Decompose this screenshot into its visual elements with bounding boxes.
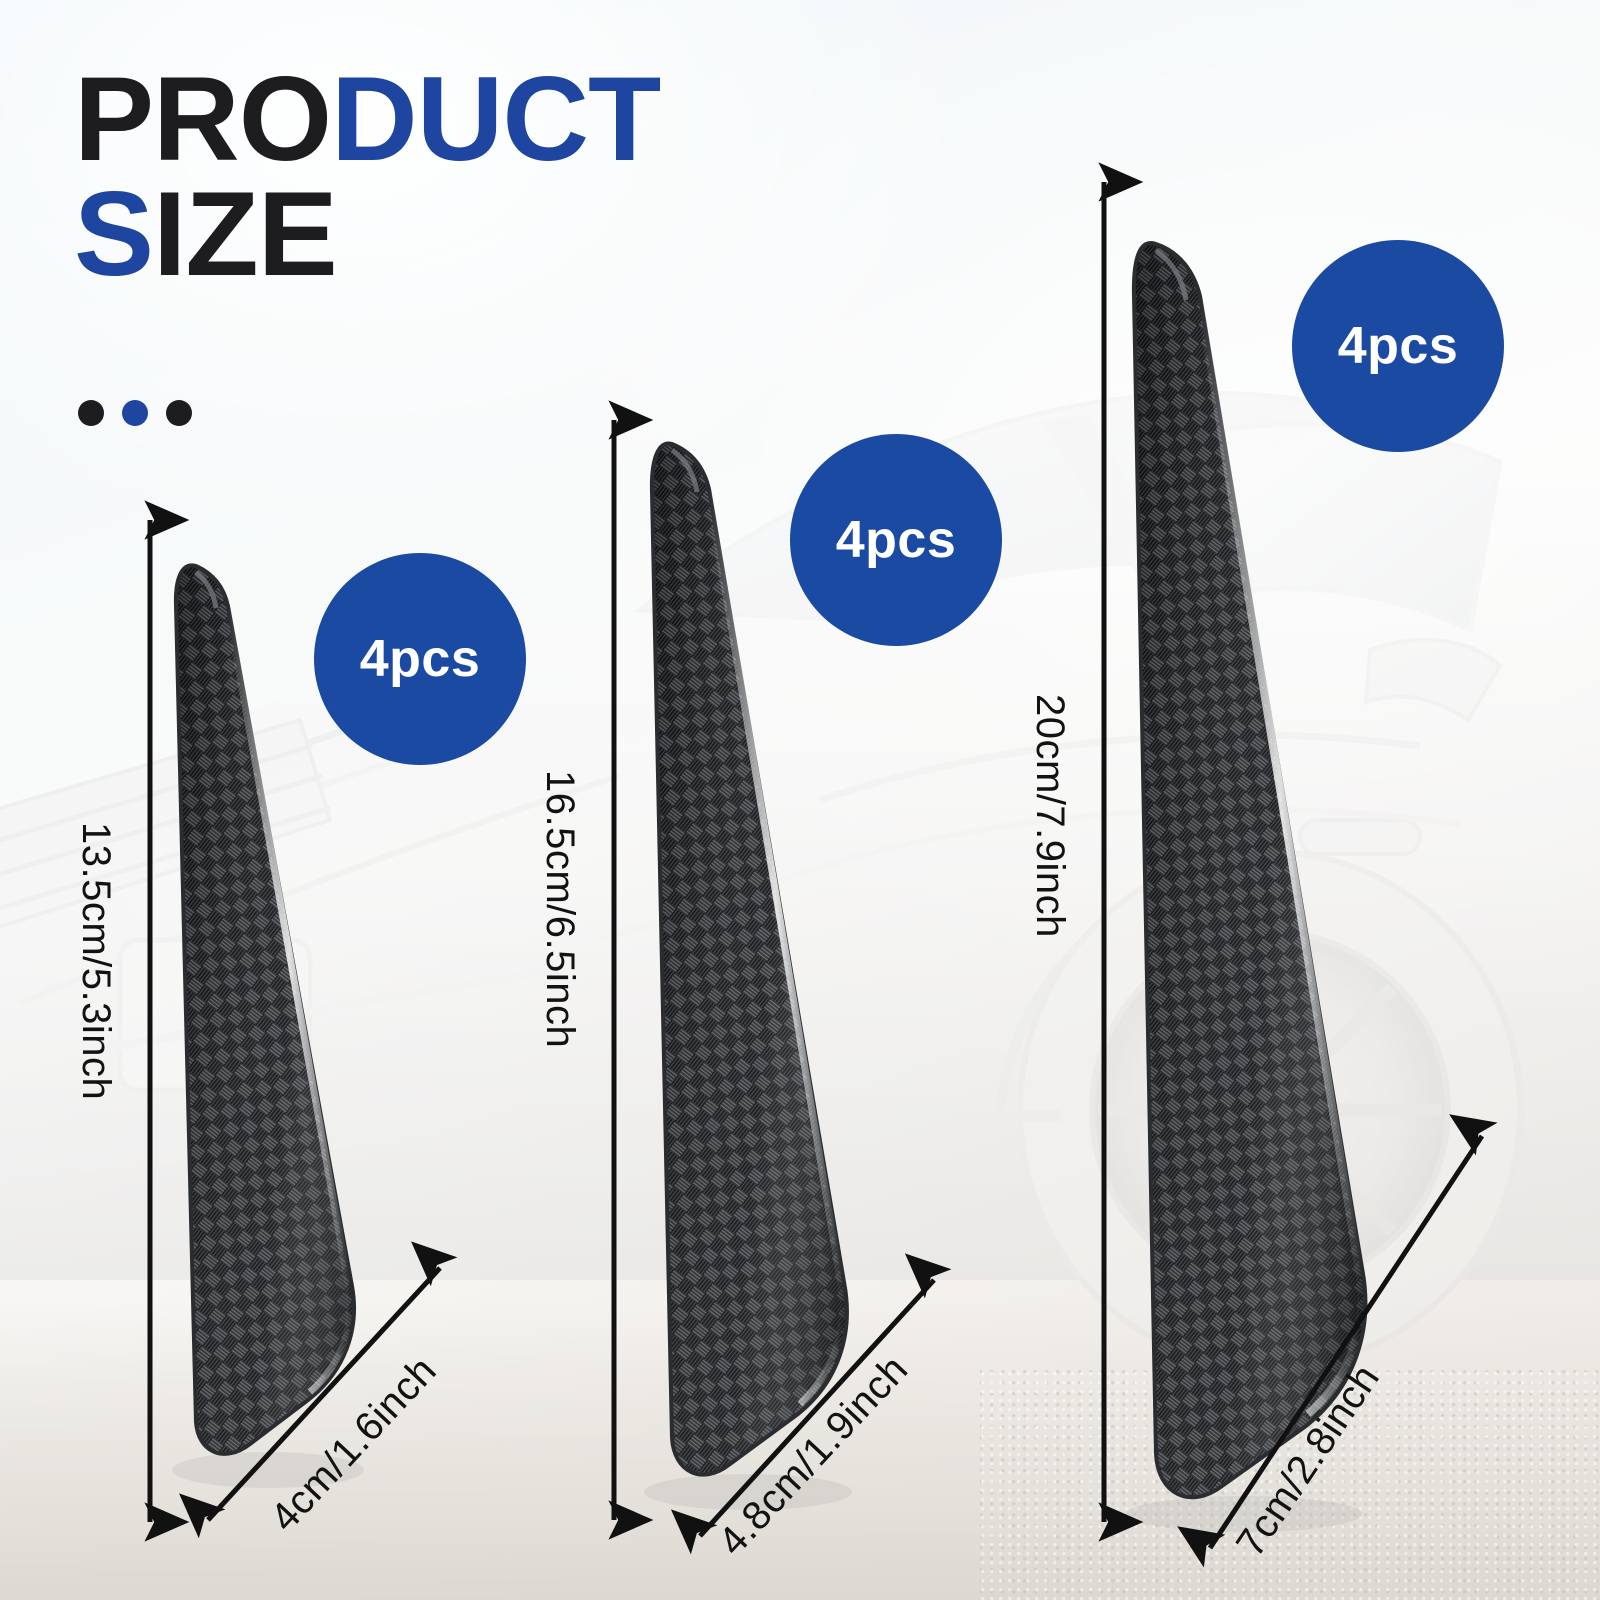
height-label-large: 20cm/7.9inch [1027,694,1072,938]
title-line-2: SIZE [74,177,660,292]
quantity-badge-medium: 4pcs [790,434,1002,646]
decor-dot-1 [78,400,104,426]
title-decor-dots [78,400,192,426]
product-size-infographic: X [0,0,1600,1600]
title-part-size-blue: S [74,167,153,301]
page-title: PRODUCT SIZE [74,62,660,292]
quantity-badge-small: 4pcs [314,553,526,765]
title-part-product-blue: DUCT [331,52,660,186]
title-part-product-dark: PRO [74,52,331,186]
title-part-size-dark: IZE [153,167,337,301]
decor-dot-2 [122,400,148,426]
decor-dot-3 [166,400,192,426]
height-label-small: 13.5cm/5.3inch [73,822,118,1100]
quantity-badge-large: 4pcs [1292,240,1504,452]
title-line-1: PRODUCT [74,62,660,177]
height-label-medium: 16.5cm/6.5inch [537,770,582,1048]
